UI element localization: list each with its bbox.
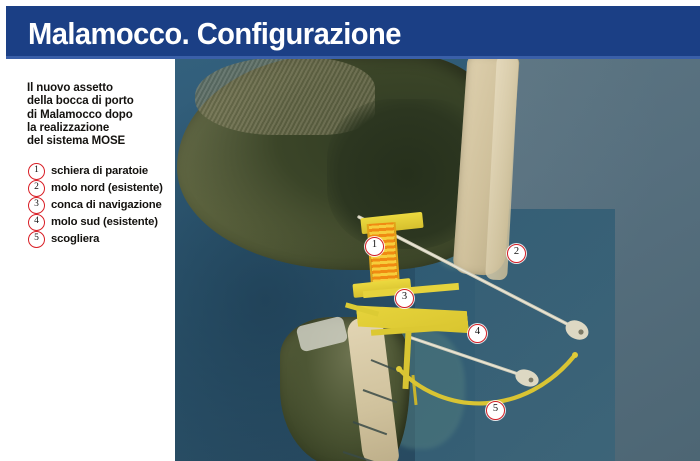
intro-caption: Il nuovo assetto della bocca di porto di… [27, 82, 172, 148]
legend-badge-4: 4 [28, 214, 45, 231]
map-marker-4[interactable]: 4 [468, 324, 487, 343]
map-marker-1[interactable]: 1 [365, 237, 384, 256]
legend-label-5: scogliera [51, 233, 99, 245]
legend-item-2: 2 molo nord (esistente) [28, 180, 178, 196]
legend-badge-5: 5 [28, 231, 45, 248]
legend-label-4: molo sud (esistente) [51, 216, 158, 228]
intro-line-5: del sistema MOSE [27, 135, 172, 148]
legend-panel: Il nuovo assetto della bocca di porto di… [6, 59, 175, 461]
slide-header: Malamocco. Configurazione [6, 6, 700, 59]
legend-label-2: molo nord (esistente) [51, 182, 163, 194]
slide-root: Malamocco. Configurazione Il nuovo asset… [0, 0, 700, 461]
legend-item-1: 1 schiera di paratoie [28, 163, 178, 179]
legend-badge-2: 2 [28, 180, 45, 197]
aerial-map: 1 2 3 4 5 [175, 59, 700, 461]
legend-label-3: conca di navigazione [51, 199, 162, 211]
map-marker-2[interactable]: 2 [507, 244, 526, 263]
intro-line-1: Il nuovo assetto [27, 82, 172, 95]
map-marker-3[interactable]: 3 [395, 289, 414, 308]
legend-badge-1: 1 [28, 163, 45, 180]
legend-item-4: 4 molo sud (esistente) [28, 214, 178, 230]
legend-key-list: 1 schiera di paratoie 2 molo nord (esist… [28, 163, 178, 248]
page-title: Malamocco. Configurazione [28, 16, 401, 52]
intro-line-4: la realizzazione [27, 122, 172, 135]
legend-label-1: schiera di paratoie [51, 165, 148, 177]
curved-breakwater [393, 345, 623, 441]
legend-item-3: 3 conca di navigazione [28, 197, 178, 213]
intro-line-3: di Malamocco dopo [27, 109, 172, 122]
intro-line-2: della bocca di porto [27, 95, 172, 108]
legend-item-5: 5 scogliera [28, 231, 178, 247]
map-marker-5[interactable]: 5 [486, 401, 505, 420]
legend-badge-3: 3 [28, 197, 45, 214]
